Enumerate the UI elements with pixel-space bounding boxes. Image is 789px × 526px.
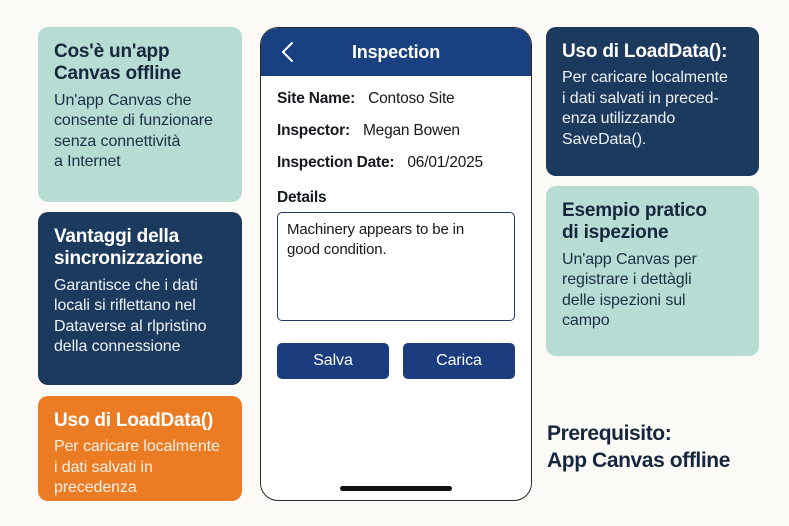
phone-app-header: Inspection — [261, 28, 531, 76]
inspection-date-label: Inspection Date: — [277, 154, 394, 172]
phone-action-bar: Salva Carica — [277, 343, 515, 379]
inspector-value[interactable]: Megan Bowen — [363, 122, 460, 140]
load-button[interactable]: Carica — [403, 343, 515, 379]
phone-mockup: Inspection Site Name: Contoso Site Inspe… — [260, 27, 532, 501]
home-indicator — [340, 486, 452, 491]
inspection-date-value[interactable]: 06/01/2025 — [407, 154, 483, 172]
card-body: Per caricare localmente i dati salvati i… — [562, 68, 743, 150]
inspector-label: Inspector: — [277, 122, 350, 140]
card-title: Esempio pratico di ispezione — [562, 200, 743, 245]
card-title: Cos'è un'app Canvas offline — [54, 41, 226, 86]
card-practical-example: Esempio pratico di ispezione Un'app Canv… — [546, 186, 759, 356]
field-row-site-name: Site Name: Contoso Site — [277, 90, 515, 108]
card-title: Uso di LoadData(): — [562, 41, 743, 63]
card-loaddata-usage-right: Uso di LoadData(): Per caricare localmen… — [546, 27, 759, 176]
card-body: Un'app Canvas per registrare i dettàgli … — [562, 250, 743, 332]
card-title: Uso di LoadData() — [54, 410, 226, 432]
card-sync-advantages: Vantaggi della sincronizzazione Garantis… — [38, 212, 242, 385]
card-title: Vantaggi della sincronizzazione — [54, 226, 226, 271]
card-body: Garantisce che i dati locali si rifletta… — [54, 276, 226, 358]
card-body: Un'app Canvas che consente di funzionare… — [54, 91, 226, 173]
chevron-left-icon — [281, 41, 294, 63]
back-button[interactable] — [272, 28, 302, 76]
card-loaddata-usage-left: Uso di LoadData() Per caricare localment… — [38, 396, 242, 501]
card-what-is-canvas-offline: Cos'è un'app Canvas offline Un'app Canva… — [38, 27, 242, 202]
field-row-inspector: Inspector: Megan Bowen — [277, 122, 515, 140]
details-label: Details — [277, 189, 515, 207]
field-row-inspection-date: Inspection Date: 06/01/2025 — [277, 154, 515, 172]
phone-screen-content: Site Name: Contoso Site Inspector: Megan… — [261, 76, 531, 500]
save-button[interactable]: Salva — [277, 343, 389, 379]
details-input[interactable]: Machinery appears to be in good conditio… — [277, 212, 515, 321]
site-name-label: Site Name: — [277, 90, 355, 108]
card-body: Per caricare localmente i dati salvati i… — [54, 437, 226, 498]
prerequisite-caption: Prerequisito: App Canvas offline — [547, 420, 777, 475]
site-name-value[interactable]: Contoso Site — [368, 90, 454, 108]
